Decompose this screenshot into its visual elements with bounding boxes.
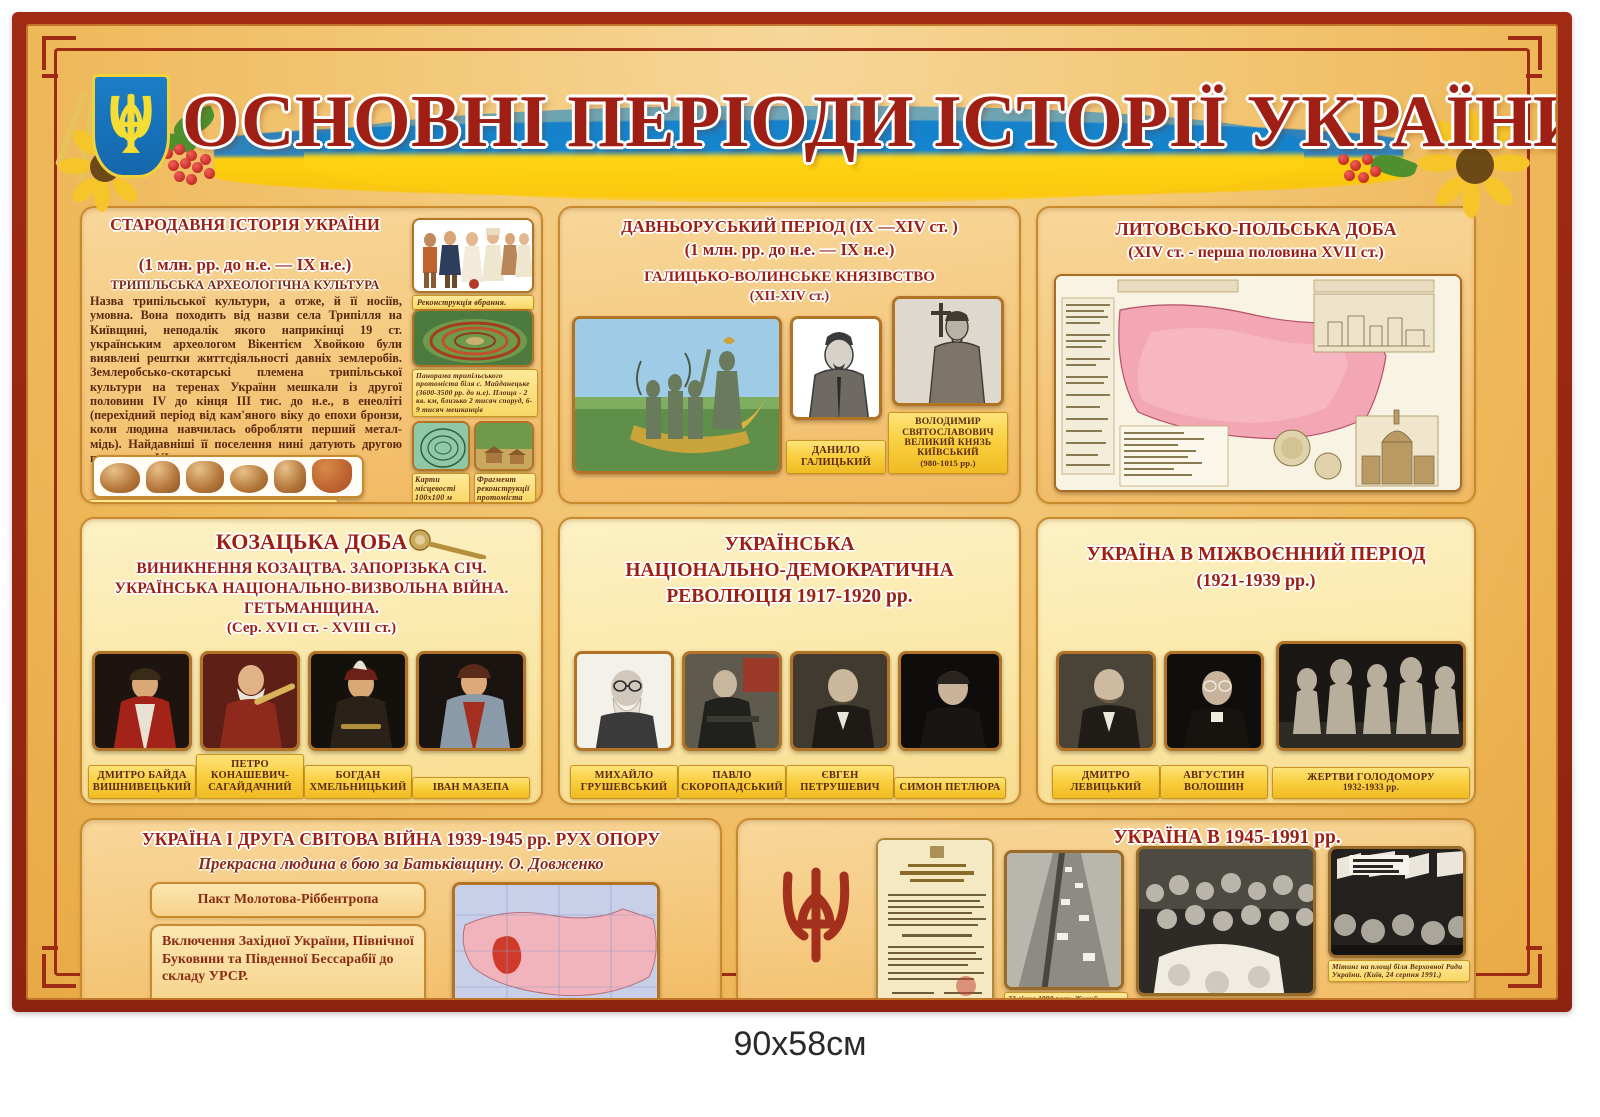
ancient-body-text: Назва трипільської культури, а отже, й ї… xyxy=(90,294,402,465)
corner-bar xyxy=(42,946,58,950)
person-card-petliura: СИМОН ПЕТЛЮРА xyxy=(898,651,1002,799)
reconstruction-fragment-caption: Фрагмент реконструкції протоміста xyxy=(474,473,536,504)
petrushevych-name-label: ЄВГЕН ПЕТРУШЕВИЧ xyxy=(786,765,894,799)
lithuanian-title: ЛИТОВСЬКО-ПОЛЬСЬКА ДОБА xyxy=(1042,220,1470,239)
kyivan-title: ДАВНЬОРУСЬКИЙ ПЕРІОД (IX —XIV ст. ) xyxy=(564,218,1015,235)
wwii-quote: Прекрасна людина в бою за Батьківщину. О… xyxy=(86,854,716,874)
bulava-mace-icon xyxy=(404,529,494,559)
person-card-mazepa: ІВАН МАЗЕПА xyxy=(416,651,526,799)
wwii-box-molotov-ribbentrop: Пакт Молотова-Ріббентропа xyxy=(150,882,426,918)
skoropadskyi-name-label: ПАВЛО СКОРОПАДСЬКИЙ xyxy=(678,765,786,799)
person-card-voloshyn: АВГУСТИН ВОЛОШИН xyxy=(1164,651,1264,799)
cossack-line-1: ВИНИКНЕННЯ КОЗАЦТВА. ЗАПОРІЗЬКА СІЧ. xyxy=(84,561,539,577)
person-card-skoropadskyi: ПАВЛО СКОРОПАДСЬКИЙ xyxy=(682,651,782,799)
rally-caption: Мітинг на площі біля Верховної Ради Укра… xyxy=(1328,960,1470,982)
wwii-territory-map xyxy=(452,882,660,1000)
holodomor-card: ЖЕРТВИ ГОЛОДОМОРУ 1932-1933 рр. xyxy=(1276,641,1466,799)
ukraine-coat-of-arms-icon xyxy=(92,74,170,178)
person-card-vyshnyvetskyi: ДМИТРО БАЙДА ВИШНИВЕЦЬКИЙ xyxy=(92,651,192,799)
person-card-levytskyi: ДМИТРО ЛЕВИЦЬКИЙ xyxy=(1056,651,1156,799)
poster-header: ОСНОВНІ ПЕРІОДИ ІСТОРІЇ УКРАЇНИ xyxy=(64,60,1520,210)
ancient-period: (1 млн. рр. до н.е. — IX н.е.) xyxy=(86,256,404,274)
panel-cossack-era: КОЗАЦЬКА ДОБА ВИНИКНЕННЯ КОЗАЦТВА. ЗАПОР… xyxy=(80,517,543,805)
corner-ornament-bottom-right xyxy=(1508,954,1542,988)
panel-revolution: УКРАЇНСЬКА НАЦІОНАЛЬНО-ДЕМОКРАТИЧНА РЕВО… xyxy=(558,517,1021,805)
pottery-photo xyxy=(92,455,364,498)
kyivan-period: (1 млн. рр. до н.е. — IX н.е.) xyxy=(564,241,1015,258)
reconstruction-fragment-photo xyxy=(474,421,534,471)
voloshyn-name-label: АВГУСТИН ВОЛОШИН xyxy=(1160,765,1268,799)
panorama-caption: Панорама трипільського протоміста біля с… xyxy=(412,369,538,417)
person-card-danylo: ДАНИЛО ГАЛИЦЬКИЙ xyxy=(790,316,882,474)
panels-grid: СТАРОДАВНЯ ІСТОРІЯ УКРАЇНИ (1 млн. рр. д… xyxy=(80,206,1504,958)
petrushevych-portrait-photo xyxy=(790,651,890,751)
pottery-caption: Глек для зерна. Трипільський посуд. Риту… xyxy=(88,499,338,504)
clothing-caption: Реконструкція вбрання. xyxy=(412,295,534,310)
panel-wwii: УКРАЇНА І ДРУГА СВІТОВА ВІЙНА 1939-1945 … xyxy=(80,818,722,1000)
ancient-title: СТАРОДАВНЯ ІСТОРІЯ УКРАЇНИ xyxy=(90,216,400,233)
khmelnytskyi-name-label: БОГДАН ХМЕЛЬНИЦЬКИЙ xyxy=(304,765,412,799)
mazepa-name-label: ІВАН МАЗЕПА xyxy=(412,777,530,799)
holodomor-victims-photo xyxy=(1276,641,1466,751)
panel-lithuanian-polish: ЛИТОВСЬКО-ПОЛЬСЬКА ДОБА (XIV ст. - перша… xyxy=(1036,206,1476,504)
cossack-period: (Сер. XVII ст. - XVIII ст.) xyxy=(84,621,539,637)
voloshyn-portrait-photo xyxy=(1164,651,1264,751)
panel-soviet-period: УКРАЇНА В 1945-1991 рр. xyxy=(736,818,1476,1000)
page-title: ОСНОВНІ ПЕРІОДИ ІСТОРІЇ УКРАЇНИ xyxy=(182,80,1510,165)
levytskyi-name-label: ДМИТРО ЛЕВИЦЬКИЙ xyxy=(1052,765,1160,799)
trident-emblem-icon xyxy=(770,850,862,980)
lithuanian-historical-map xyxy=(1054,274,1462,492)
panel-kyivan-rus: ДАВНЬОРУСЬКИЙ ПЕРІОД (IX —XIV ст. ) (1 м… xyxy=(558,206,1021,504)
kyivan-subtitle: ГАЛИЦЬКО-ВОЛИНСЬКЕ КНЯЗІВСТВО xyxy=(564,270,1015,286)
poster: ОСНОВНІ ПЕРІОДИ ІСТОРІЇ УКРАЇНИ СТАРОДАВ… xyxy=(12,12,1572,1012)
proto-city-panorama-photo xyxy=(412,309,534,367)
ancient-subtitle: ТРИПІЛЬСЬКА АРХЕОЛОГІЧНА КУЛЬТУРА xyxy=(84,278,406,293)
cossack-line-3: ГЕТЬМАНЩИНА. xyxy=(84,601,539,617)
volodymyr-dates-label: (980-1015 рр.) xyxy=(891,459,1005,468)
corner-bar xyxy=(1526,74,1542,78)
rally-flags-photo xyxy=(1328,846,1466,958)
locality-map-photo xyxy=(412,421,470,471)
corner-bar xyxy=(42,74,58,78)
petliura-portrait-photo xyxy=(898,651,1002,751)
person-card-sahaidachnyi: ПЕТРО КОНАШЕВИЧ-САГАЙДАЧНИЙ xyxy=(200,651,300,799)
revolution-title-3: РЕВОЛЮЦІЯ 1917-1920 рр. xyxy=(562,587,1017,607)
vyshnyvetskyi-portrait-photo xyxy=(92,651,192,751)
panel-interwar: УКРАЇНА В МІЖВОЄННИЙ ПЕРІОД (1921-1939 р… xyxy=(1036,517,1476,805)
revolution-title-1: УКРАЇНСЬКА xyxy=(562,535,1017,555)
corner-bar xyxy=(1526,946,1542,950)
corner-ornament-bottom-left xyxy=(42,954,76,988)
interwar-period: (1921-1939 рр.) xyxy=(1040,571,1472,590)
volodymyr-name-label: ВОЛОДИМИР СВЯТОСЛАВОВИЧ ВЕЛИКИЙ КНЯЗЬ КИ… xyxy=(902,416,994,458)
hrushevskyi-name-label: МИХАЙЛО ГРУШЕВСЬКИЙ xyxy=(570,765,678,799)
khmelnytskyi-portrait-photo xyxy=(308,651,408,751)
danylo-name-label: ДАНИЛО ГАЛИЦЬКИЙ xyxy=(786,440,886,474)
petliura-name-label: СИМОН ПЕТЛЮРА xyxy=(894,777,1006,799)
holodomor-dates: 1932-1933 рр. xyxy=(1275,783,1467,793)
person-card-khmelnytskyi: БОГДАН ХМЕЛЬНИЦЬКИЙ xyxy=(308,651,408,799)
wwii-box-annexation: Включення Західної України, Північної Бу… xyxy=(150,924,426,1000)
person-card-hrushevskyi: МИХАЙЛО ГРУШЕВСЬКИЙ xyxy=(574,651,674,799)
locality-map-caption: Карти місцевості 100х100 м xyxy=(412,473,470,504)
vyshnyvetskyi-name-label: ДМИТРО БАЙДА ВИШНИВЕЦЬКИЙ xyxy=(88,765,196,799)
levytskyi-portrait-photo xyxy=(1056,651,1156,751)
skoropadskyi-portrait-photo xyxy=(682,651,782,751)
clothing-reconstruction-photo xyxy=(412,218,534,293)
person-card-petrushevych: ЄВГЕН ПЕТРУШЕВИЧ xyxy=(790,651,890,799)
human-chain-caption: 22 січня 1990 року. Живий ланцюг на вули… xyxy=(1004,992,1128,1000)
founders-monument-photo xyxy=(572,316,782,474)
poster-inner-area: ОСНОВНІ ПЕРІОДИ ІСТОРІЇ УКРАЇНИ СТАРОДАВ… xyxy=(26,24,1558,1000)
revolution-title-2: НАЦІОНАЛЬНО-ДЕМОКРАТИЧНА xyxy=(562,561,1017,581)
panel-ancient-history: СТАРОДАВНЯ ІСТОРІЯ УКРАЇНИ (1 млн. рр. д… xyxy=(80,206,543,504)
sahaidachnyi-portrait-photo xyxy=(200,651,300,751)
person-card-volodymyr: ВОЛОДИМИР СВЯТОСЛАВОВИЧ ВЕЛИКИЙ КНЯЗЬ КИ… xyxy=(892,296,1004,474)
volodymyr-portrait-photo xyxy=(892,296,1004,406)
cossack-line-2: УКРАЇНСЬКА НАЦІОНАЛЬНО-ВИЗВОЛЬНА ВІЙНА. xyxy=(84,581,539,597)
human-chain-photo xyxy=(1004,850,1124,990)
crowd-demonstration-photo xyxy=(1136,846,1316,996)
sahaidachnyi-name-label: ПЕТРО КОНАШЕВИЧ-САГАЙДАЧНИЙ xyxy=(196,754,304,799)
wwii-title: УКРАЇНА І ДРУГА СВІТОВА ВІЙНА 1939-1945 … xyxy=(86,830,716,848)
danylo-portrait-photo xyxy=(790,316,882,420)
lithuanian-period: (XIV ст. - перша половина XVII ст.) xyxy=(1042,245,1470,262)
independence-act-document xyxy=(876,838,994,1000)
mazepa-portrait-photo xyxy=(416,651,526,751)
interwar-title: УКРАЇНА В МІЖВОЄННИЙ ПЕРІОД xyxy=(1040,545,1472,565)
size-label: 90х58см xyxy=(0,1025,1600,1064)
hrushevskyi-portrait-photo xyxy=(574,651,674,751)
